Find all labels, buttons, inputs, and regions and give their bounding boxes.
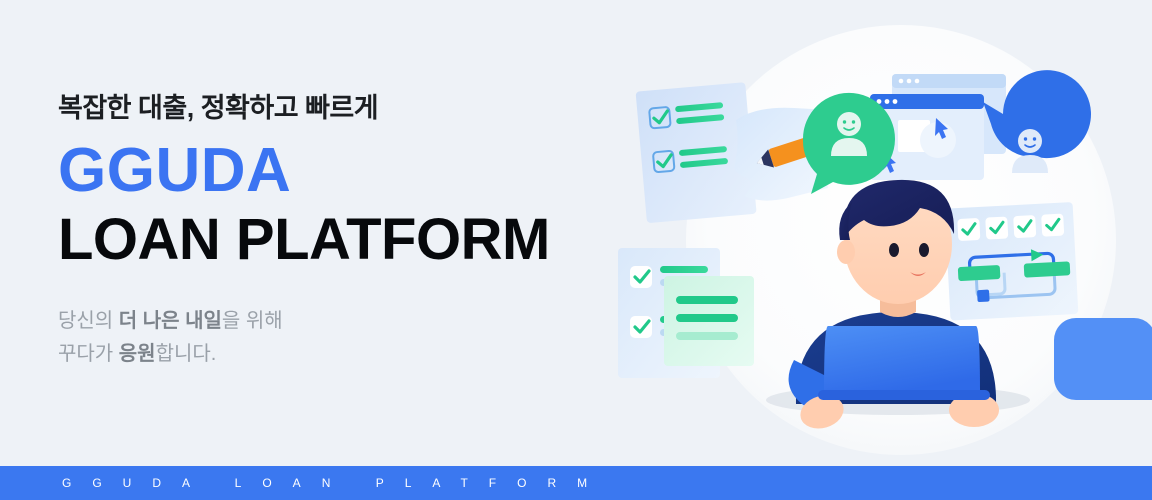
blue-accent-shape — [1054, 318, 1152, 400]
hero-brand-name: GGUDA — [58, 140, 618, 202]
bottom-ribbon: GGUDA LOAN PLATFORM — [0, 466, 1152, 500]
hero-subcopy: 당신의 더 나은 내일을 위해 꾸다가 응원합니다. — [58, 305, 618, 371]
hero-subcopy-line-2: 꾸다가 응원합니다. — [58, 338, 618, 371]
hero-product-name: LOAN PLATFORM — [58, 210, 618, 271]
subcopy-line2-suffix: 합니다. — [156, 343, 217, 365]
hero-text-block: 복잡한 대출, 정확하고 빠르게 GGUDA LOAN PLATFORM 당신의… — [58, 92, 618, 371]
bottom-ribbon-text: GGUDA LOAN PLATFORM — [0, 476, 608, 490]
hero-subcopy-line-1: 당신의 더 나은 내일을 위해 — [58, 305, 618, 338]
subcopy-line1-suffix: 을 위해 — [222, 310, 283, 332]
mint-note-card — [664, 276, 754, 366]
subcopy-line2-bold: 응원 — [119, 343, 156, 365]
subcopy-line1-prefix: 당신의 — [58, 310, 119, 332]
hero-banner: 복잡한 대출, 정확하고 빠르게 GGUDA LOAN PLATFORM 당신의… — [0, 0, 1152, 500]
hero-illustration — [618, 0, 1152, 466]
subcopy-line2-prefix: 꾸다가 — [58, 343, 119, 365]
flowchart-card — [945, 202, 1079, 321]
subcopy-line1-bold: 더 나은 내일 — [119, 310, 222, 332]
hero-tagline: 복잡한 대출, 정확하고 빠르게 — [58, 92, 618, 126]
